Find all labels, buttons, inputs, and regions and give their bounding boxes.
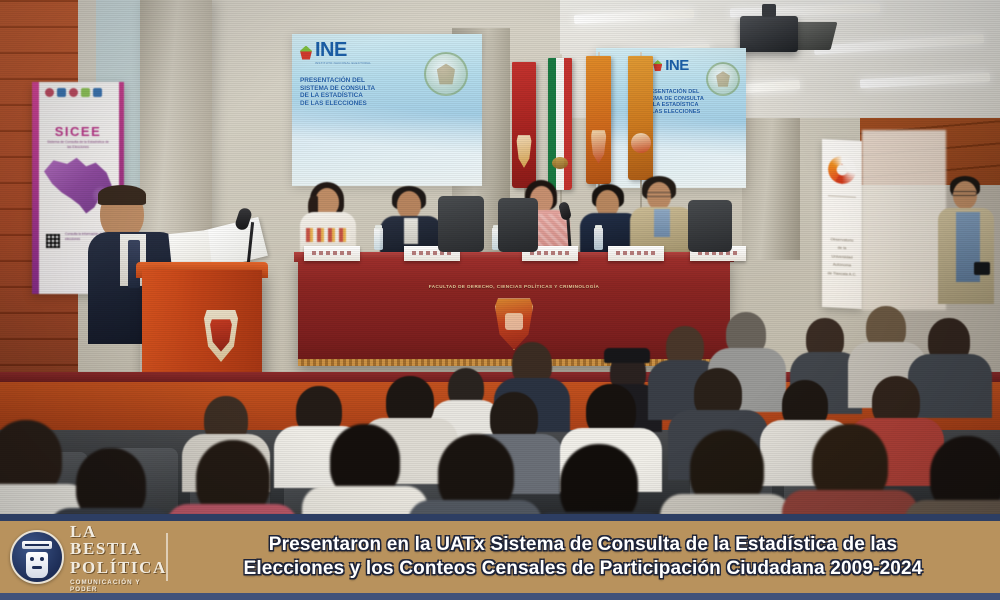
screenshot-root: INE INSTITUTO NACIONAL ELECTORAL PRESENT… (0, 0, 1000, 600)
qr-code-icon (46, 234, 60, 248)
sponsor-logos (45, 88, 102, 97)
headline-line-1: Presentaron en la UATx Sistema de Consul… (269, 533, 897, 557)
chair (438, 196, 484, 252)
eyeglasses-icon (646, 192, 672, 197)
projection-screen-right: INE PRESENTACIÓN DEL SISTEMA DE CONSULTA… (596, 48, 746, 188)
name-placard (304, 246, 360, 261)
ceiling-projector (740, 16, 798, 52)
flag-mexico (548, 58, 572, 190)
water-bottle (374, 228, 383, 250)
water-bottle (594, 228, 603, 250)
brand-word-line-2: POLÍTICA (70, 559, 168, 576)
eyeglasses-icon (951, 191, 977, 196)
brand-word-line-1: LA BESTIA (70, 523, 168, 557)
headline-line-2: Elecciones y los Conteos Censales de Par… (244, 557, 923, 581)
brand-wordmark: LA BESTIA POLÍTICA COMUNICACIÓN Y PODER (70, 521, 168, 592)
sicee-title: SICEE (55, 124, 102, 139)
observatorio-spiral-icon (828, 155, 856, 184)
column-face-seal-icon (10, 530, 64, 584)
flag-red (512, 62, 536, 188)
name-placard (608, 246, 664, 261)
screen-glare-right (596, 48, 746, 188)
observatorio-line-2: de la Universidad (827, 244, 857, 262)
brand-lockup: LA BESTIA POLÍTICA COMUNICACIÓN Y PODER (0, 521, 168, 593)
brand-tagline: COMUNICACIÓN Y PODER (70, 580, 168, 592)
flag-orange-2 (628, 56, 653, 180)
hat-icon (604, 348, 650, 363)
camera-icon (974, 262, 990, 275)
chair (498, 198, 538, 252)
flag-orange-1 (586, 56, 611, 184)
lower-third-caption-bar: LA BESTIA POLÍTICA COMUNICACIÓN Y PODER … (0, 514, 1000, 600)
podium-crest-icon (204, 310, 238, 362)
tablecloth-text: FACULTAD DE DERECHO, CIENCIAS POLÍTICAS … (298, 284, 730, 289)
wall-poster-right (862, 130, 946, 310)
flag-bow-icon-1 (516, 55, 532, 67)
headline-block: Presentaron en la UATx Sistema de Consul… (168, 521, 1000, 593)
chair (688, 200, 732, 252)
observatorio-line-4: de Tlaxcala A.C. (827, 269, 857, 279)
projection-screen-left: INE INSTITUTO NACIONAL ELECTORAL PRESENT… (292, 34, 482, 186)
event-photograph: INE INSTITUTO NACIONAL ELECTORAL PRESENT… (0, 0, 1000, 600)
rollup-banner-observatorio: Observatorio de la Universidad Autónoma … (822, 139, 862, 309)
sicee-subtitle: Sistema de Consulta de la Estadística de… (45, 140, 111, 150)
screen-glare (292, 34, 482, 186)
